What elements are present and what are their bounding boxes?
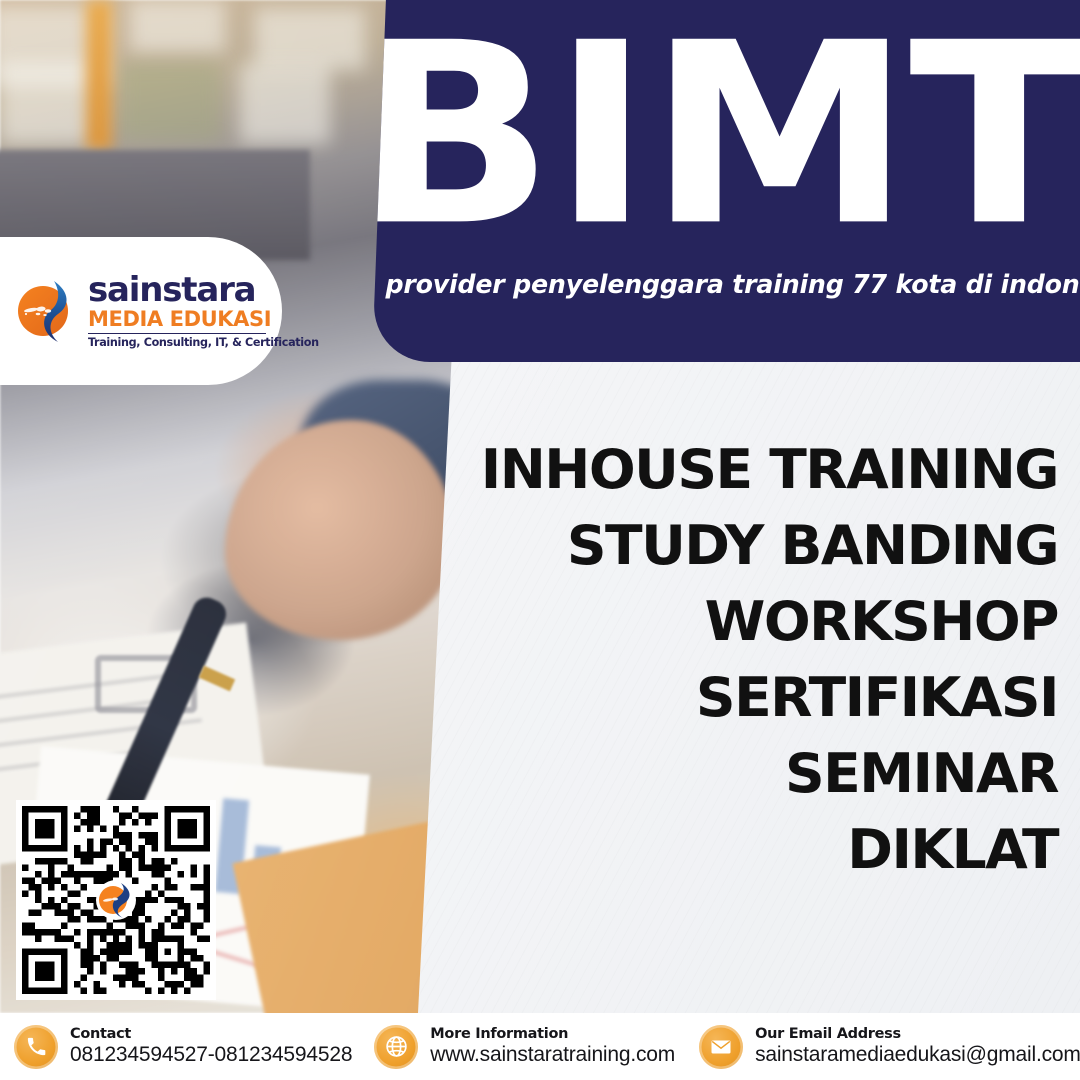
service-item: INHOUSE TRAINING bbox=[446, 432, 1058, 508]
qr-code[interactable] bbox=[16, 800, 216, 1000]
header-banner: BIMTEK provider penyelenggara training 7… bbox=[372, 0, 1080, 362]
footer-website-text: More Information www.sainstaratraining.c… bbox=[430, 1027, 675, 1066]
service-item: SEMINAR bbox=[446, 736, 1058, 812]
footer-email-label: Our Email Address bbox=[755, 1027, 1080, 1042]
brand-logo-card: sainstara MEDIA EDUKASI Training, Consul… bbox=[0, 237, 282, 385]
qr-code-canvas bbox=[22, 806, 210, 994]
footer-contact-text: Contact 081234594527-081234594528 bbox=[70, 1027, 352, 1066]
service-item: WORKSHOP bbox=[446, 584, 1058, 660]
service-item: DIKLAT bbox=[446, 812, 1058, 888]
footer-email-value: sainstaramediaedukasi@gmail.com bbox=[755, 1044, 1080, 1066]
poster-root: BIMTEK provider penyelenggara training 7… bbox=[0, 0, 1080, 1080]
footer-website-block[interactable]: More Information www.sainstaratraining.c… bbox=[352, 1013, 675, 1080]
brand-tagline: Training, Consulting, IT, & Certificatio… bbox=[88, 336, 319, 349]
header-tagline: provider penyelenggara training 77 kota … bbox=[386, 270, 1079, 300]
footer-website-value: www.sainstaratraining.com bbox=[430, 1044, 675, 1066]
envelope-icon bbox=[699, 1025, 743, 1069]
brand-name: sainstara bbox=[88, 273, 319, 307]
footer-contact-label: Contact bbox=[70, 1027, 352, 1042]
footer-contact-bar: Contact 081234594527-081234594528 More I… bbox=[0, 1013, 1080, 1080]
sainstara-flame-archipelago-icon bbox=[14, 278, 80, 344]
footer-website-label: More Information bbox=[430, 1027, 675, 1042]
footer-email-text: Our Email Address sainstaramediaedukasi@… bbox=[755, 1027, 1080, 1066]
page-title: BIMTEK bbox=[372, 0, 1080, 270]
brand-divider bbox=[88, 333, 266, 335]
brand-logo-text: sainstara MEDIA EDUKASI Training, Consul… bbox=[88, 273, 319, 350]
footer-contact-value: 081234594527-081234594528 bbox=[70, 1044, 352, 1066]
sainstara-emblem-icon bbox=[96, 880, 136, 920]
service-item: SERTIFIKASI bbox=[446, 660, 1058, 736]
brand-subtitle: MEDIA EDUKASI bbox=[88, 307, 319, 331]
services-list: INHOUSE TRAINING STUDY BANDING WORKSHOP … bbox=[458, 432, 1058, 888]
service-item: STUDY BANDING bbox=[446, 508, 1058, 584]
footer-email-block[interactable]: Our Email Address sainstaramediaedukasi@… bbox=[675, 1013, 1080, 1080]
footer-contact-block[interactable]: Contact 081234594527-081234594528 bbox=[0, 1013, 352, 1080]
globe-icon bbox=[374, 1025, 418, 1069]
phone-icon bbox=[14, 1025, 58, 1069]
